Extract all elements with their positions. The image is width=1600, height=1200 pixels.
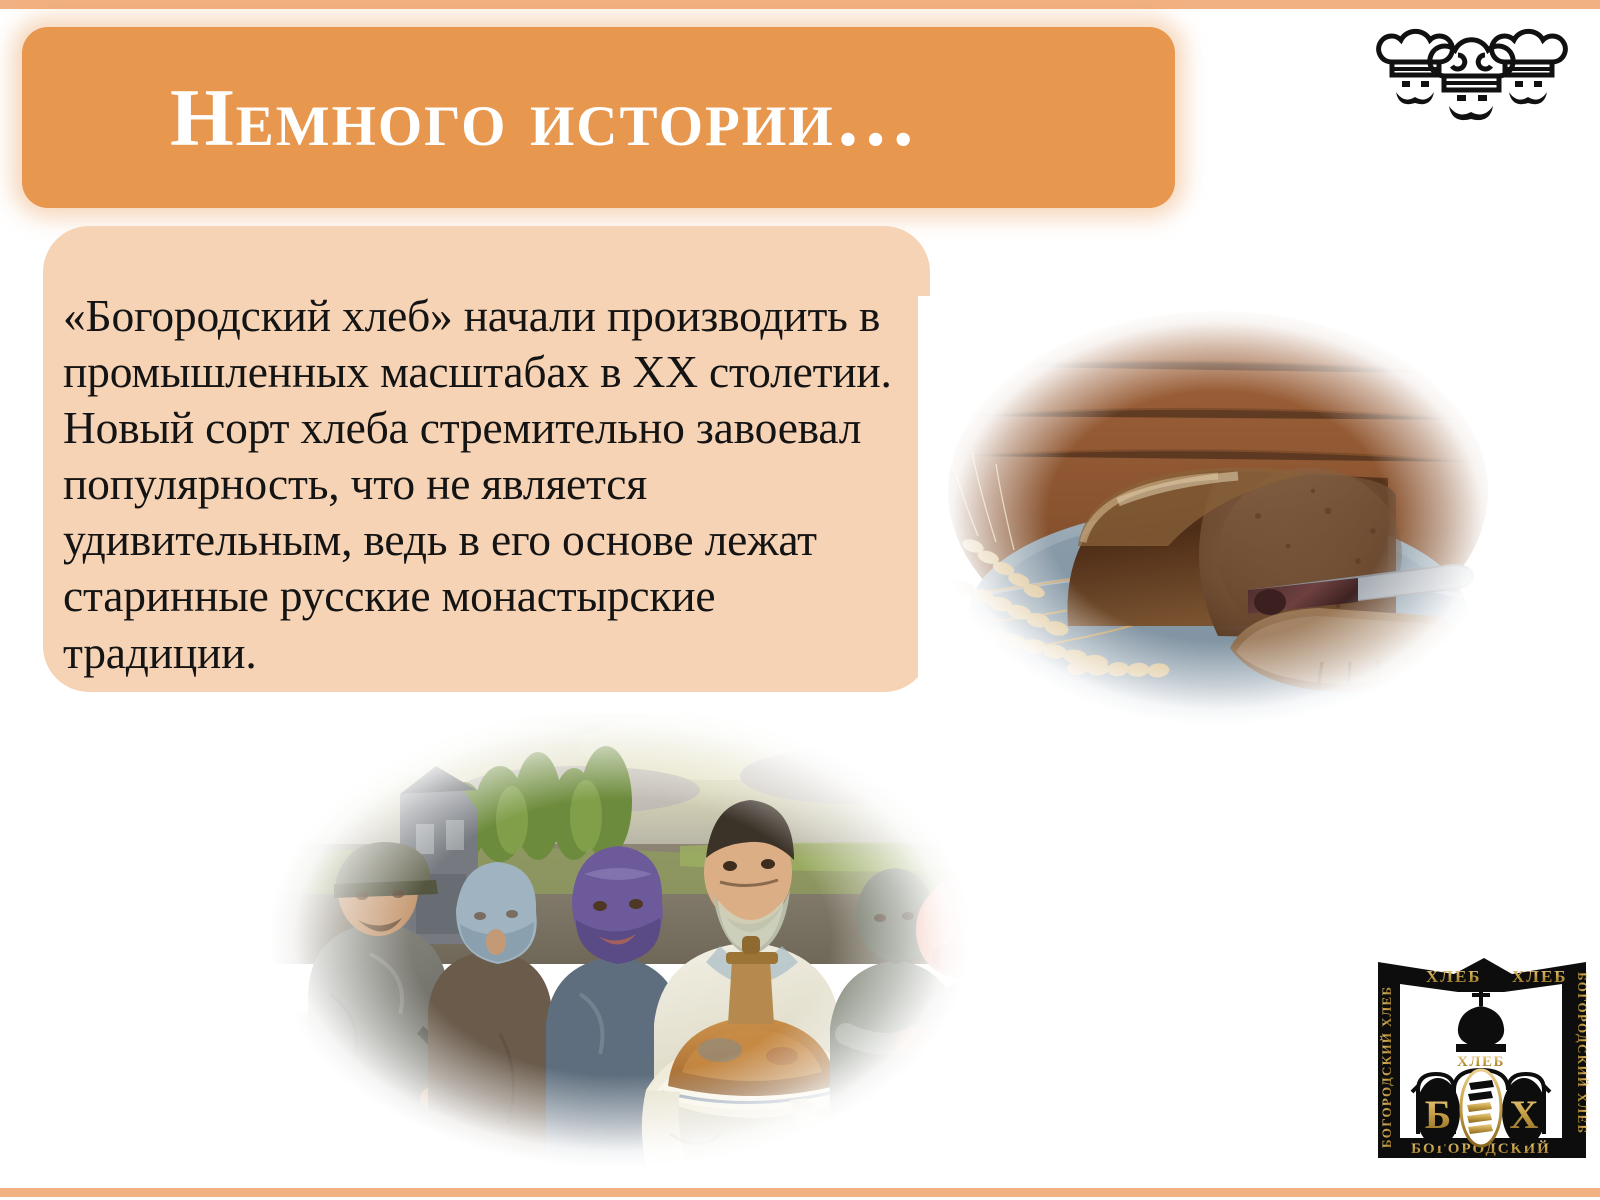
logo-dome-word: ХЛЕБ	[1457, 1054, 1505, 1070]
bread-photo: Буханка ржаного хлеба с колосьями и ножо…	[918, 296, 1518, 736]
three-chefs-hats-icon	[1372, 22, 1572, 122]
logo-top-left-word: ХЛЕБ	[1426, 967, 1482, 986]
page-title: Немного истории…	[170, 77, 919, 159]
top-edge-strip	[0, 0, 1600, 9]
logo-right-border-text: БОГОРОДСКИЙ ХЛЕБ	[1575, 972, 1590, 1134]
bogorodsky-khleb-logo: ХЛЕБ ХЛЕБ БОГОРОДСКИЙ ХЛЕБ БОГОРОДСКИЙ Х…	[1372, 948, 1590, 1166]
logo-monogram-left: Б	[1425, 1092, 1451, 1137]
title-banner: Немного истории…	[22, 27, 1175, 208]
body-paragraph: «Богородский хлеб» начали производить в …	[63, 288, 908, 681]
logo-monogram-right: Х	[1510, 1092, 1539, 1137]
peasants-painting: Картина: крестьяне встречают хлебом-соль…	[250, 694, 990, 1180]
logo-top-right-word: ХЛЕБ	[1512, 967, 1568, 986]
body-text-card: «Богородский хлеб» начали производить в …	[43, 226, 930, 692]
bottom-edge-strip	[0, 1188, 1600, 1197]
logo-left-border-text: БОГОРОДСКИЙ ХЛЕБ	[1379, 986, 1394, 1148]
